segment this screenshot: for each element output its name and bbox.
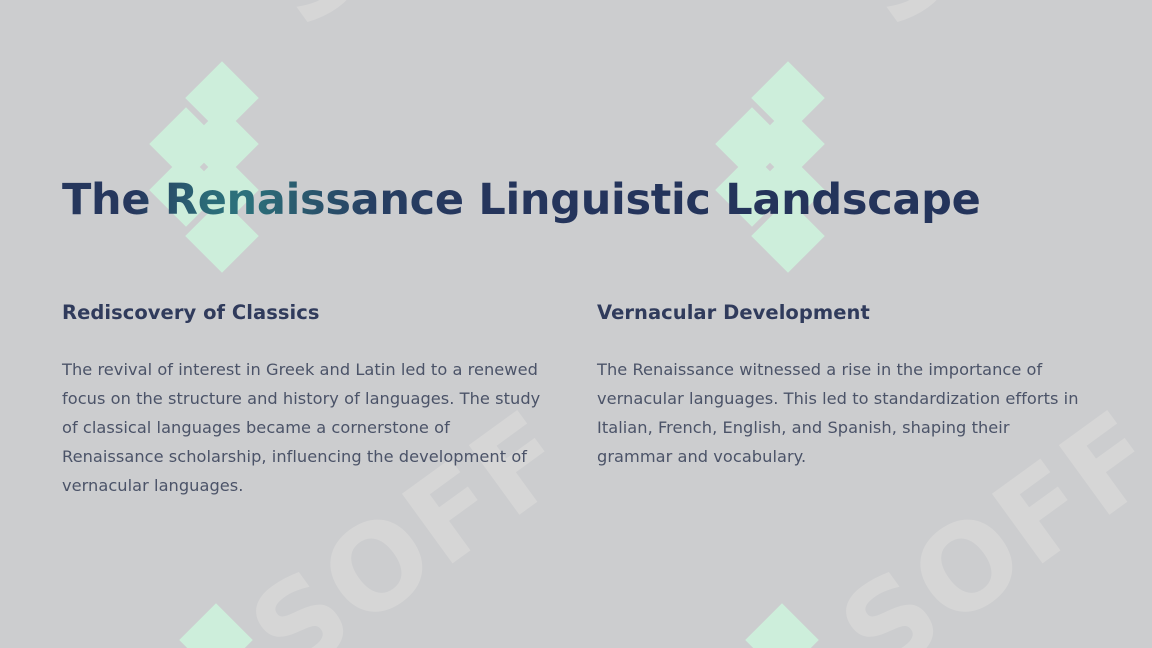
column-body-text: The Renaissance witnessed a rise in the … (597, 325, 1089, 471)
slide-canvas: SOFF SOFF SOFF SOFF The Renaissance Ling… (0, 0, 1152, 648)
column-heading: Rediscovery of Classics (62, 300, 548, 325)
page-title: The Renaissance Linguistic Landscape (62, 175, 980, 226)
content-column-right: Vernacular Development The Renaissance w… (597, 300, 1089, 471)
column-heading: Vernacular Development (597, 300, 1089, 325)
column-body-text: The revival of interest in Greek and Lat… (62, 325, 548, 500)
content-column-left: Rediscovery of Classics The revival of i… (62, 300, 548, 500)
slide-content: The Renaissance Linguistic Landscape Red… (0, 0, 1152, 648)
